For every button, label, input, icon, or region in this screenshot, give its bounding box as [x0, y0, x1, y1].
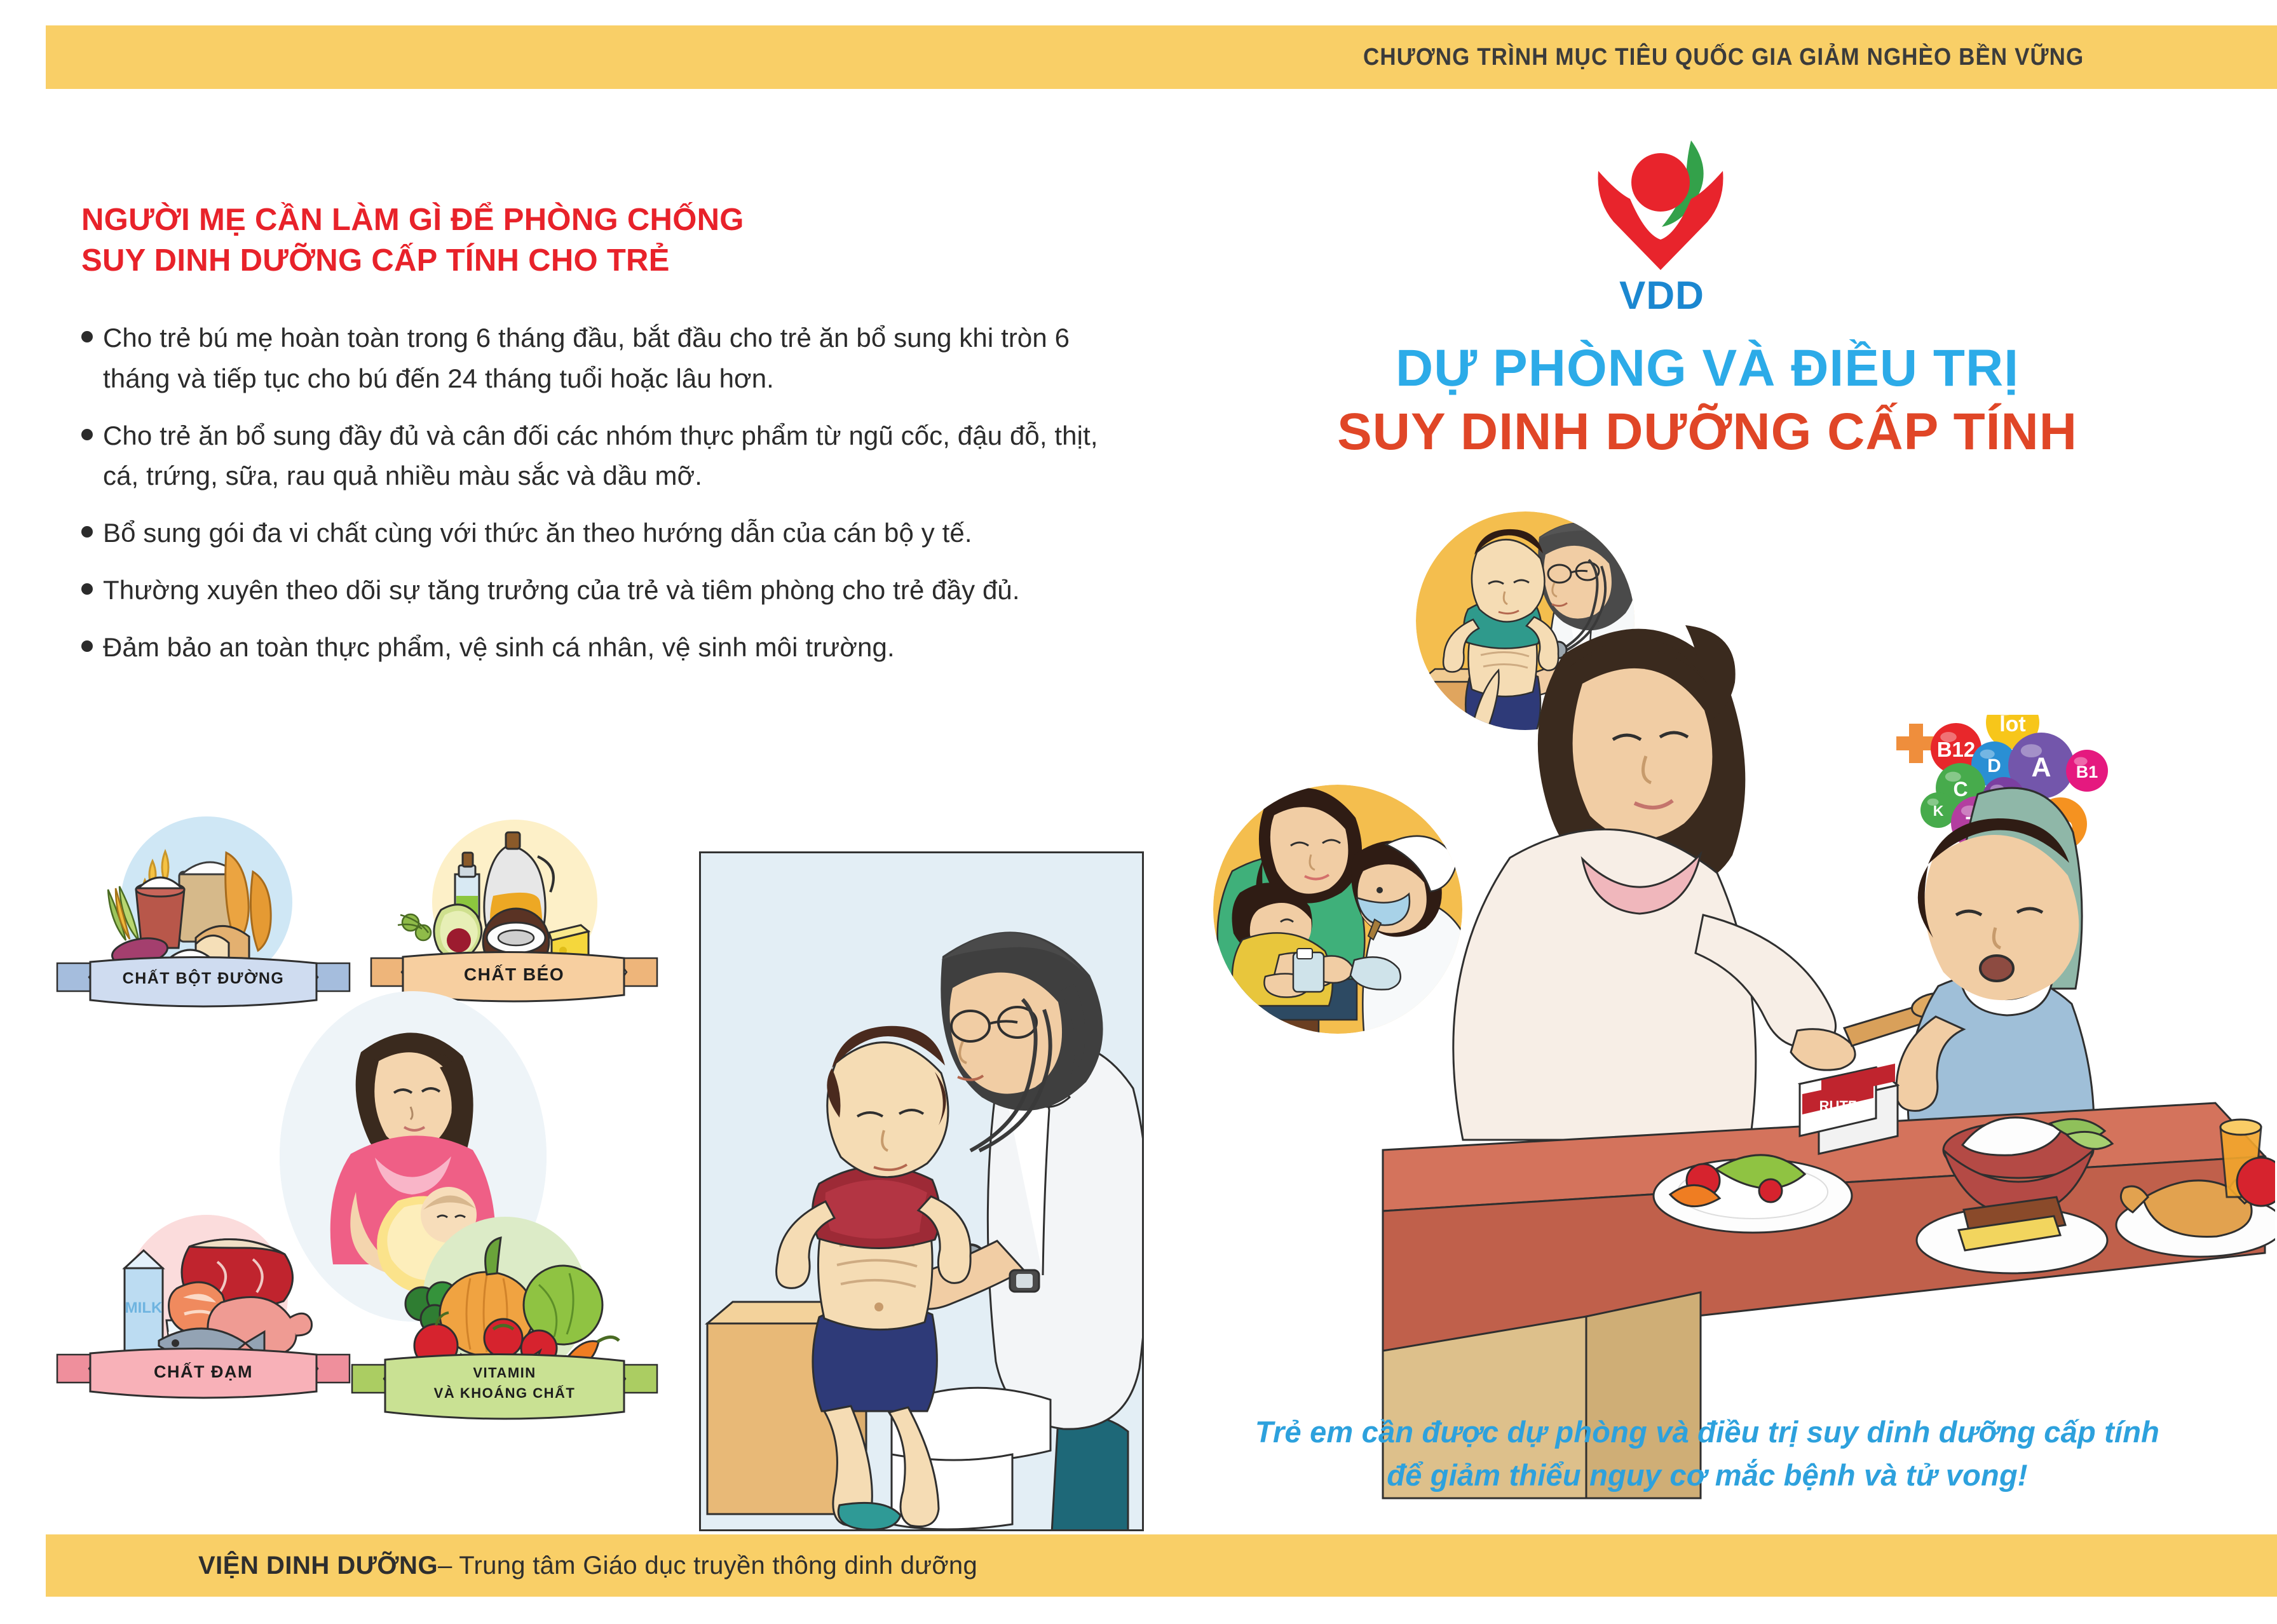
title-line-2: SUY DINH DƯỠNG CẤP TÍNH: [1138, 400, 2277, 464]
bullet-dot-icon: [81, 429, 93, 440]
list-item: Bổ sung gói đa vi chất cùng với thức ăn …: [81, 513, 1124, 553]
list-item-text: Thường xuyên theo dõi sự tăng trưởng của…: [103, 570, 1020, 611]
tagline-line-1: Trẻ em cần được dự phòng và điều trị suy…: [1138, 1411, 2277, 1454]
bullet-dot-icon: [81, 640, 93, 652]
food-group-vitamins: VITAMIN VÀ KHOÁNG CHẤT: [369, 1207, 642, 1430]
list-item: Đảm bảo an toàn thực phẩm, vệ sinh cá nh…: [81, 627, 1124, 668]
food-group-label-line-2: VÀ KHOÁNG CHẤT: [346, 1385, 663, 1402]
list-item-text: Đảm bảo an toàn thực phẩm, vệ sinh cá nh…: [103, 627, 895, 668]
food-group-label: CHẤT BÉO: [365, 964, 663, 985]
list-item: Thường xuyên theo dõi sự tăng trưởng của…: [81, 570, 1124, 611]
ribbon-banner: CHẤT ĐẠM: [51, 1343, 356, 1413]
doctor-examining-child-photo: [699, 851, 1144, 1531]
bullet-dot-icon: [81, 331, 93, 342]
mother-feeding-child-at-table: RUTF: [1373, 559, 2275, 1499]
program-title: CHƯƠNG TRÌNH MỤC TIÊU QUỐC GIA GIẢM NGHÈ…: [1363, 44, 2277, 71]
poster-main-title: DỰ PHÒNG VÀ ĐIỀU TRỊ SUY DINH DƯỠNG CẤP …: [1138, 337, 2277, 464]
left-column: NGƯỜI MẸ CẦN LÀM GÌ ĐỂ PHÒNG CHỐNG SUY D…: [0, 89, 1138, 1531]
right-column: VDD DỰ PHÒNG VÀ ĐIỀU TRỊ SUY DINH DƯỠNG …: [1138, 89, 2277, 1531]
left-heading-line-1: NGƯỜI MẸ CẦN LÀM GÌ ĐỂ PHÒNG CHỐNG: [81, 200, 907, 241]
list-item-text: Cho trẻ ăn bổ sung đầy đủ và cân đối các…: [103, 416, 1124, 497]
food-group-carbohydrates: CHẤT BỘT ĐƯỜNG: [70, 813, 343, 1023]
list-item-text: Bổ sung gói đa vi chất cùng với thức ăn …: [103, 513, 972, 553]
top-banner: CHƯƠNG TRÌNH MỤC TIÊU QUỐC GIA GIẢM NGHÈ…: [46, 25, 2277, 89]
vdd-logo-mark: [1573, 137, 1751, 276]
ribbon-banner: VITAMIN VÀ KHOÁNG CHẤT: [346, 1348, 663, 1431]
bottom-banner: VIỆN DINH DƯỠNG – Trung tâm Giáo dục tru…: [46, 1534, 2277, 1597]
food-group-protein: MILK: [70, 1207, 343, 1417]
left-heading-line-2: SUY DINH DƯỠNG CẤP TÍNH CHO TRẺ: [81, 241, 907, 281]
ribbon-banner: CHẤT BỘT ĐƯỜNG: [51, 952, 356, 1022]
poster-page: CHƯƠNG TRÌNH MỤC TIÊU QUỐC GIA GIẢM NGHÈ…: [0, 0, 2277, 1624]
left-heading: NGƯỜI MẸ CẦN LÀM GÌ ĐỂ PHÒNG CHỐNG SUY D…: [81, 200, 907, 281]
food-group-label: CHẤT ĐẠM: [51, 1362, 356, 1382]
list-item: Cho trẻ ăn bổ sung đầy đủ và cân đối các…: [81, 416, 1124, 497]
institute-name: VIỆN DINH DƯỠNG: [198, 1552, 438, 1580]
food-group-label: VITAMIN: [346, 1365, 663, 1381]
department-name: – Trung tâm Giáo dục truyền thông dinh d…: [438, 1552, 977, 1580]
list-item: Cho trẻ bú mẹ hoàn toàn trong 6 tháng đầ…: [81, 318, 1124, 399]
rutf-box-label: RUTF: [1819, 1098, 1857, 1114]
food-group-label: CHẤT BỘT ĐƯỜNG: [51, 970, 356, 988]
bullet-dot-icon: [81, 526, 93, 538]
list-item-text: Cho trẻ bú mẹ hoàn toàn trong 6 tháng đầ…: [103, 318, 1124, 399]
left-illustration-cluster: CHẤT BỘT ĐƯỜNG: [70, 801, 1125, 1563]
vdd-logo-text: VDD: [1573, 273, 1751, 318]
bullet-dot-icon: [81, 583, 93, 595]
svg-text:MILK: MILK: [125, 1299, 163, 1316]
poster-tagline: Trẻ em cần được dự phòng và điều trị suy…: [1138, 1411, 2277, 1497]
title-line-1: DỰ PHÒNG VÀ ĐIỀU TRỊ: [1138, 337, 2277, 400]
vdd-logo: VDD: [1573, 137, 1751, 308]
recommendation-list: Cho trẻ bú mẹ hoàn toàn trong 6 tháng đầ…: [81, 318, 1124, 684]
tagline-line-2: để giảm thiểu nguy cơ mắc bệnh và tử von…: [1138, 1454, 2277, 1497]
